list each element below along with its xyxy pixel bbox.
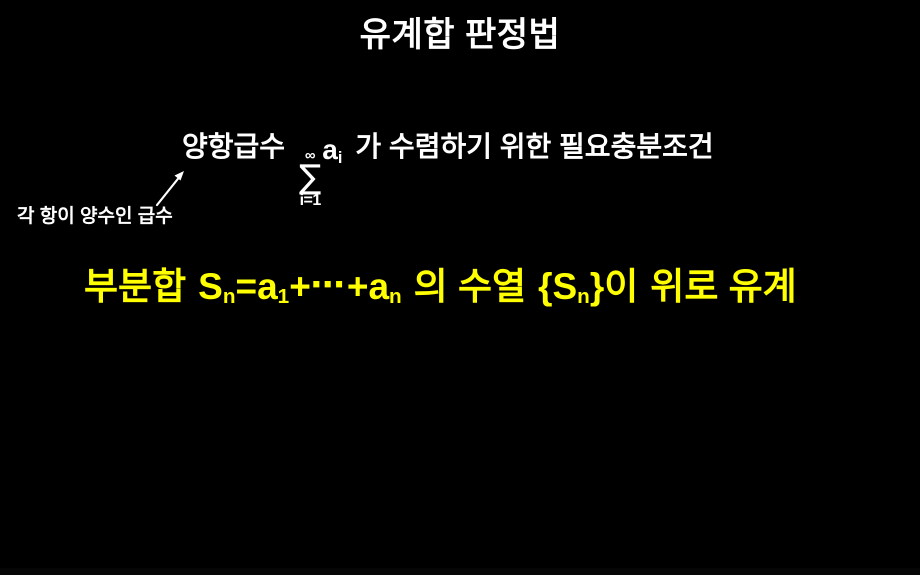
annotation-arrow-wrapper [150, 166, 194, 210]
equals-sign: = [235, 266, 257, 307]
partial-sum-formula: Sn=a1+⋯+an [198, 268, 402, 305]
close-brace: } [590, 266, 604, 307]
plus-sign-1: + [289, 266, 311, 307]
term-a1-subscript: 1 [278, 285, 290, 308]
sequence-particle: 이 [604, 266, 638, 307]
summation-term-subscript: i [338, 149, 343, 167]
conclusion-line: 부분합 Sn=a1+⋯+an 의 수열 {Sn}이 위로 유계 [84, 268, 797, 305]
conclusion-part2: 의 수열 [414, 268, 526, 305]
sigma-icon: ∑ [299, 162, 321, 192]
sequence-notation: {Sn}이 [538, 268, 638, 305]
summation-term: ai [322, 136, 342, 164]
plus-sign-2: + [347, 266, 369, 307]
statement-suffix: 가 수렴하기 위한 필요충분조건 [355, 133, 713, 161]
slide-canvas: 유계합 판정법 양항급수 ∞ ∑ i=1 ai 가 수렴하기 위한 필요충분조건… [0, 0, 920, 575]
statement-line: 양항급수 ∞ ∑ i=1 ai 가 수렴하기 위한 필요충분조건 [182, 133, 714, 206]
conclusion-part3: 위로 유계 [650, 268, 796, 305]
conclusion-part1: 부분합 [84, 268, 186, 305]
summation-lower-limit: i=1 [300, 192, 321, 210]
summation-operator: ∞ ∑ i=1 [299, 148, 321, 210]
arrow-up-right-icon [150, 166, 194, 210]
term-a1: a [257, 266, 278, 307]
term-an-subscript: n [389, 285, 402, 308]
partial-sum-s-subscript: n [223, 285, 236, 308]
slide-bottom-edge [0, 568, 920, 575]
statement-prefix: 양항급수 [182, 133, 285, 161]
summation-term-base: a [322, 134, 338, 165]
sequence-s: S [552, 266, 577, 307]
partial-sum-s: S [198, 266, 223, 307]
page-title: 유계합 판정법 [0, 16, 920, 55]
sequence-s-subscript: n [577, 285, 590, 308]
annotation-text: 각 항이 양수인 급수 [17, 207, 173, 228]
term-an: a [368, 266, 389, 307]
open-brace: { [538, 266, 552, 307]
ellipsis: ⋯ [311, 266, 347, 304]
